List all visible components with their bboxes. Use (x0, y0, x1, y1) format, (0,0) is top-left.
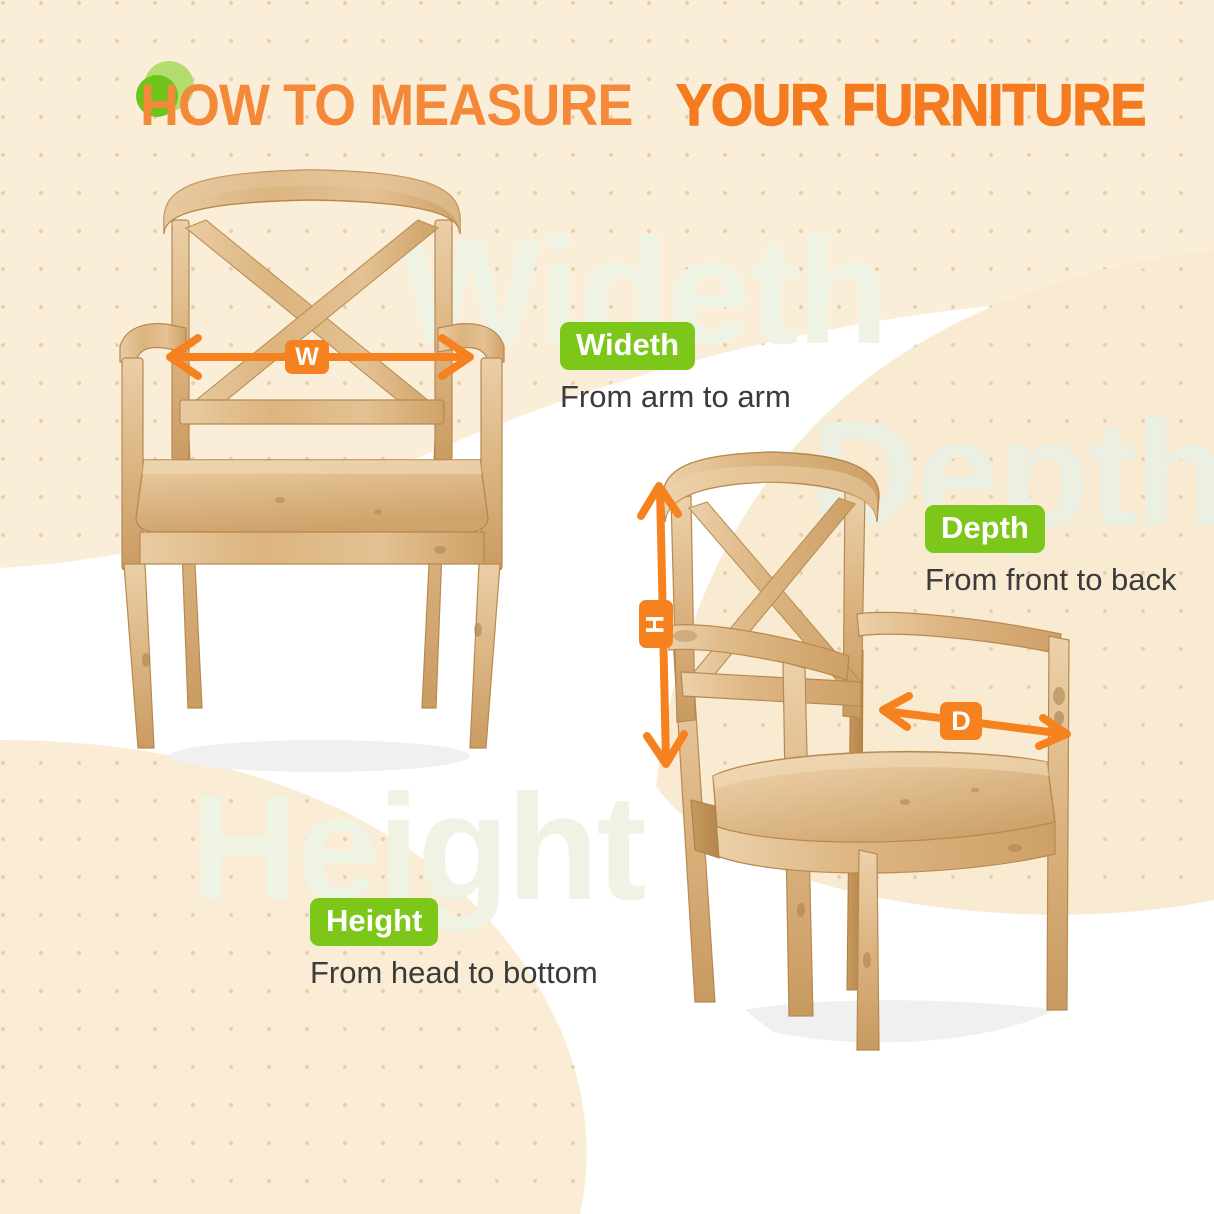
page-title: HOW TO MEASUREYOUR FURNITURE (140, 72, 1180, 139)
page-title-bold: YOUR FURNITURE (676, 72, 1145, 139)
badge-height: Height (310, 898, 438, 946)
callout-width: Wideth From arm to arm (560, 322, 791, 415)
description-depth: From front to back (925, 562, 1177, 598)
width-marker-label: W (285, 340, 329, 374)
description-width: From arm to arm (560, 379, 791, 415)
callout-height: Height From head to bottom (310, 898, 598, 991)
chair-front-view (110, 160, 510, 780)
badge-width: Wideth (560, 322, 695, 370)
depth-marker-label: D (940, 702, 982, 740)
callout-depth: Depth From front to back (925, 505, 1177, 598)
description-height: From head to bottom (310, 955, 598, 991)
badge-depth: Depth (925, 505, 1045, 553)
height-marker-label: H (639, 600, 673, 648)
page-title-light: HOW TO MEASURE (140, 72, 632, 139)
infographic-canvas: Wideth Depth Height HOW TO MEASUREYOUR F… (0, 0, 1214, 1214)
